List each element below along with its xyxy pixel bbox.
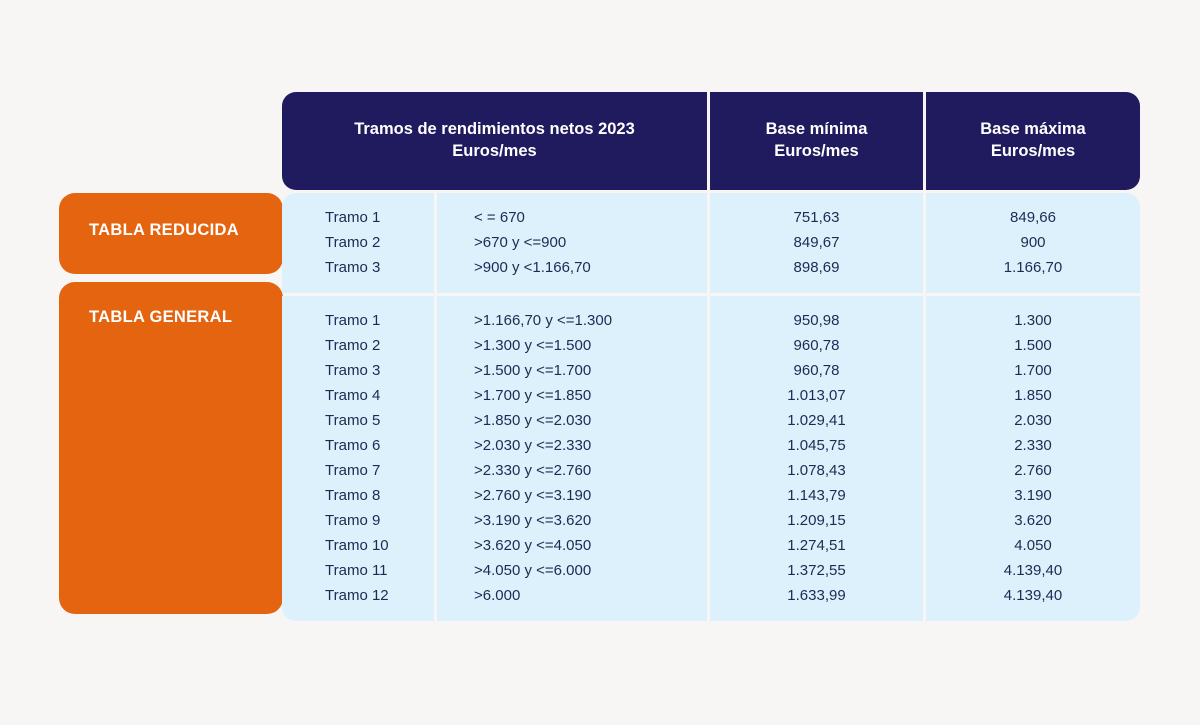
table-cell-rango: >2.030 y <=2.330 — [437, 433, 707, 458]
table-cell-base-minima: 950,98 — [710, 308, 923, 333]
table-cell-rango: >1.300 y <=1.500 — [437, 333, 707, 358]
table-cell-tramo: Tramo 3 — [282, 358, 434, 383]
column-header-tramos-line2: Euros/mes — [354, 141, 635, 163]
section-column-base-maxima: 849,669001.166,70 — [926, 193, 1140, 293]
table-section-tabla-general: Tramo 1Tramo 2Tramo 3Tramo 4Tramo 5Tramo… — [282, 296, 1140, 621]
table-cell-base-minima: 1.372,55 — [710, 558, 923, 583]
table-cell-base-minima: 898,69 — [710, 255, 923, 280]
table-cell-tramo: Tramo 7 — [282, 458, 434, 483]
table-cell-base-minima: 1.209,15 — [710, 508, 923, 533]
table-cell-tramo: Tramo 11 — [282, 558, 434, 583]
side-label-tabla-reducida-text: TABLA REDUCIDA — [89, 221, 239, 240]
section-column-rango: >1.166,70 y <=1.300>1.300 y <=1.500>1.50… — [437, 296, 707, 621]
table-cell-base-maxima: 1.500 — [926, 333, 1140, 358]
side-label-tabla-general: TABLA GENERAL — [59, 282, 283, 614]
table-cell-rango: >4.050 y <=6.000 — [437, 558, 707, 583]
table-cell-base-minima: 960,78 — [710, 333, 923, 358]
table-cell-base-maxima: 4.050 — [926, 533, 1140, 558]
table-cell-base-maxima: 3.620 — [926, 508, 1140, 533]
table-cell-base-maxima: 4.139,40 — [926, 558, 1140, 583]
table-cell-tramo: Tramo 2 — [282, 333, 434, 358]
table-cell-base-maxima: 2.030 — [926, 408, 1140, 433]
table-cell-tramo: Tramo 3 — [282, 255, 434, 280]
column-header-tramos-line1: Tramos de rendimientos netos 2023 — [354, 119, 635, 141]
table-cell-base-maxima: 1.166,70 — [926, 255, 1140, 280]
table-cell-base-minima: 1.013,07 — [710, 383, 923, 408]
section-column-tramo: Tramo 1Tramo 2Tramo 3 — [282, 193, 434, 293]
table-cell-tramo: Tramo 6 — [282, 433, 434, 458]
table-cell-tramo: Tramo 5 — [282, 408, 434, 433]
section-column-rango: < = 670>670 y <=900>900 y <1.166,70 — [437, 193, 707, 293]
page-canvas: TABLA REDUCIDA TABLA GENERAL Tramos de r… — [0, 0, 1200, 725]
table-cell-rango: >6.000 — [437, 583, 707, 608]
table-cell-base-maxima: 1.300 — [926, 308, 1140, 333]
table-cell-base-maxima: 900 — [926, 230, 1140, 255]
table-header-row: Tramos de rendimientos netos 2023 Euros/… — [282, 92, 1140, 190]
table-cell-tramo: Tramo 1 — [282, 308, 434, 333]
table-cell-base-maxima: 2.330 — [926, 433, 1140, 458]
column-header-base-minima: Base mínima Euros/mes — [710, 92, 923, 190]
table-cell-base-maxima: 4.139,40 — [926, 583, 1140, 608]
side-label-tabla-general-text: TABLA GENERAL — [89, 308, 232, 327]
table-cell-rango: >2.330 y <=2.760 — [437, 458, 707, 483]
table-cell-base-minima: 1.029,41 — [710, 408, 923, 433]
table-cell-tramo: Tramo 10 — [282, 533, 434, 558]
table-cell-base-minima: 1.078,43 — [710, 458, 923, 483]
table-cell-rango: >3.190 y <=3.620 — [437, 508, 707, 533]
column-header-tramos: Tramos de rendimientos netos 2023 Euros/… — [282, 92, 707, 190]
column-header-base-maxima-line2: Euros/mes — [980, 141, 1086, 163]
table-section-tabla-reducida: Tramo 1Tramo 2Tramo 3 < = 670>670 y <=90… — [282, 193, 1140, 293]
table-cell-rango: >1.700 y <=1.850 — [437, 383, 707, 408]
table-cell-rango: >670 y <=900 — [437, 230, 707, 255]
table-cell-tramo: Tramo 9 — [282, 508, 434, 533]
table-cell-tramo: Tramo 1 — [282, 205, 434, 230]
table-cell-tramo: Tramo 4 — [282, 383, 434, 408]
section-column-base-maxima: 1.3001.5001.7001.8502.0302.3302.7603.190… — [926, 296, 1140, 621]
table-cell-base-maxima: 849,66 — [926, 205, 1140, 230]
column-header-base-minima-line1: Base mínima — [766, 119, 868, 141]
section-column-base-minima: 950,98960,78960,781.013,071.029,411.045,… — [710, 296, 923, 621]
table-cell-base-minima: 751,63 — [710, 205, 923, 230]
column-header-base-maxima: Base máxima Euros/mes — [926, 92, 1140, 190]
table-cell-base-minima: 1.045,75 — [710, 433, 923, 458]
table-cell-base-maxima: 1.700 — [926, 358, 1140, 383]
table-cell-base-minima: 1.143,79 — [710, 483, 923, 508]
table-cell-tramo: Tramo 2 — [282, 230, 434, 255]
section-column-tramo: Tramo 1Tramo 2Tramo 3Tramo 4Tramo 5Tramo… — [282, 296, 434, 621]
table-cell-rango: >1.500 y <=1.700 — [437, 358, 707, 383]
table-cell-rango: >2.760 y <=3.190 — [437, 483, 707, 508]
table-cell-base-minima: 1.633,99 — [710, 583, 923, 608]
section-column-base-minima: 751,63849,67898,69 — [710, 193, 923, 293]
table-cell-base-minima: 960,78 — [710, 358, 923, 383]
table-cell-rango: < = 670 — [437, 205, 707, 230]
table-cell-base-minima: 849,67 — [710, 230, 923, 255]
column-header-base-maxima-line1: Base máxima — [980, 119, 1086, 141]
side-label-tabla-reducida: TABLA REDUCIDA — [59, 193, 283, 274]
table-cell-base-maxima: 3.190 — [926, 483, 1140, 508]
column-header-base-minima-line2: Euros/mes — [766, 141, 868, 163]
table-cell-rango: >1.850 y <=2.030 — [437, 408, 707, 433]
table-cell-tramo: Tramo 12 — [282, 583, 434, 608]
table-cell-rango: >1.166,70 y <=1.300 — [437, 308, 707, 333]
table-cell-base-minima: 1.274,51 — [710, 533, 923, 558]
rates-table: Tramos de rendimientos netos 2023 Euros/… — [282, 92, 1140, 614]
table-cell-rango: >900 y <1.166,70 — [437, 255, 707, 280]
table-cell-tramo: Tramo 8 — [282, 483, 434, 508]
table-cell-rango: >3.620 y <=4.050 — [437, 533, 707, 558]
table-cell-base-maxima: 2.760 — [926, 458, 1140, 483]
table-cell-base-maxima: 1.850 — [926, 383, 1140, 408]
